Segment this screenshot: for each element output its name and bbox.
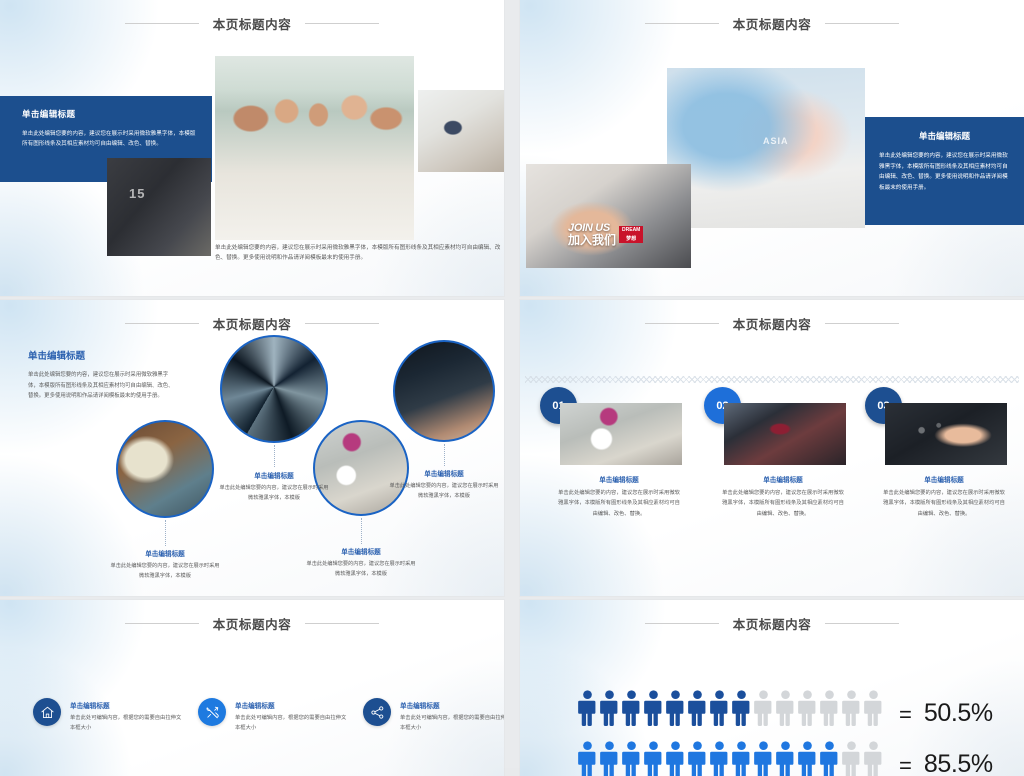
join-us-badge: JOIN US 加入我们 DREAM 梦想 <box>568 223 643 246</box>
person-icon <box>820 741 839 776</box>
connector-4 <box>444 444 445 466</box>
card-text: 单击此处编辑您要的内容，建议您在展示时采用微软雅黑字体，本模版所有图形线条及其相… <box>881 488 1007 519</box>
tools-icon <box>198 698 226 726</box>
slide-3-intro-block: 单击编辑标题 单击此处编辑您要的内容，建议您在展示时采用微软雅黑字体，本模版所有… <box>28 348 178 402</box>
card-text: 单击此处编辑您要的内容，建议您在展示时采用微软雅黑字体，本模版所有图形线条及其相… <box>556 488 682 519</box>
page-title: 本页标题内容 <box>213 14 292 33</box>
wine-toast-photo <box>724 403 846 465</box>
title-rule-right <box>825 623 899 624</box>
numbered-card-1[interactable]: 01 单击编辑标题 单击此处编辑您要的内容，建议您在展示时采用微软雅黑字体，本模… <box>556 403 682 519</box>
percentage-value-1: 50.5% <box>924 701 993 726</box>
person-icon <box>842 690 861 726</box>
panel-body: 单击此处编辑您要的内容，建议您在展示时采用微软雅黑字体，本模版所有图形线条及其相… <box>879 151 1010 194</box>
circle-label-1: 单击编辑标题 单击此处编辑您要的内容，建议您在展示时采用微软雅黑字体，本模版 <box>109 548 221 581</box>
person-icon <box>622 690 641 726</box>
circle-label-title: 单击编辑标题 <box>218 470 330 480</box>
person-icon <box>622 741 641 776</box>
share-icon <box>363 698 391 726</box>
dream-tag-top: DREAM <box>619 226 643 234</box>
card-title: 单击编辑标题 <box>881 474 1007 484</box>
feature-title: 单击编辑标题 <box>70 700 183 710</box>
slide-5[interactable]: 本页标题内容 单击编辑标题 单击此处可编辑内容，根据您的需要自由拉伸文本框大小 <box>0 600 504 776</box>
intro-body: 单击此处编辑您要的内容，建议您在展示时采用微软雅黑字体，本模版所有图形线条及其相… <box>28 370 178 402</box>
pictogram-row-1: = 50.5% <box>578 690 993 726</box>
person-icon <box>578 741 597 776</box>
person-icon <box>732 741 751 776</box>
feature-item-2[interactable]: 单击编辑标题 单击此处可编辑内容，根据您的需要自由拉伸文本框大小 <box>198 698 348 734</box>
feature-text-block: 单击编辑标题 单击此处可编辑内容，根据您的需要自由拉伸文本框大小 <box>400 698 504 734</box>
person-icon <box>644 741 663 776</box>
person-icon <box>754 741 773 776</box>
feature-text-block: 单击编辑标题 单击此处可编辑内容，根据您的需要自由拉伸文本框大小 <box>70 698 183 734</box>
numbered-card-2[interactable]: 02 单击编辑标题 单击此处编辑您要的内容，建议您在展示时采用微软雅黑字体，本模… <box>720 403 846 519</box>
slide-1-title-bar: 本页标题内容 <box>0 0 504 46</box>
panel-heading: 单击编辑标题 <box>879 130 1010 142</box>
connector-2 <box>274 445 275 467</box>
person-icon <box>644 690 663 726</box>
tech-icons-photo <box>885 403 1007 465</box>
circle-label-title: 单击编辑标题 <box>388 468 500 478</box>
title-rule-right <box>305 23 379 24</box>
card-title: 单击编辑标题 <box>556 474 682 484</box>
person-icon <box>820 690 839 726</box>
glass-tower-circle[interactable] <box>220 335 328 443</box>
slide-thumbnail-grid: 本页标题内容 单击编辑标题 单击此处编辑您要的内容，建议您在展示时采用微软雅黑字… <box>0 0 1024 768</box>
page-title: 本页标题内容 <box>733 614 812 633</box>
dream-tag-bottom: 梦想 <box>619 235 643 243</box>
page-title: 本页标题内容 <box>733 314 812 333</box>
intro-heading: 单击编辑标题 <box>28 348 178 362</box>
slide-4[interactable]: 本页标题内容 01 单击编辑标题 单击此处编辑您要的内容，建议您在展示时采用微软… <box>520 300 1024 596</box>
connector-3 <box>361 518 362 544</box>
person-icon <box>666 741 685 776</box>
person-icon <box>578 690 597 726</box>
percentage-value-2: 85.5% <box>924 752 993 776</box>
person-icon <box>864 741 883 776</box>
person-icon <box>842 741 861 776</box>
person-icon <box>754 690 773 726</box>
circle-label-3: 单击编辑标题 单击此处编辑您要的内容，建议您在展示时采用微软雅黑字体，本模版 <box>305 546 417 579</box>
circle-label-text: 单击此处编辑您要的内容，建议您在展示时采用微软雅黑字体，本模版 <box>305 559 417 579</box>
slide-6-title-bar: 本页标题内容 <box>520 600 1024 646</box>
title-rule-left <box>645 323 719 324</box>
person-icon <box>600 741 619 776</box>
title-rule-left <box>645 23 719 24</box>
title-rule-left <box>645 623 719 624</box>
panel-body: 单击此处编辑您要的内容，建议您在展示时采用微软雅黑字体，本模版所有图形线条及其相… <box>22 129 198 150</box>
join-us-chinese: 加入我们 <box>568 234 616 246</box>
title-rule-left <box>125 623 199 624</box>
asia-overlay-text: ASIA <box>763 136 789 146</box>
equals-sign-1: = <box>899 704 912 726</box>
feature-title: 单击编辑标题 <box>235 700 348 710</box>
office-desk-photo <box>418 90 504 172</box>
person-icon <box>864 690 883 726</box>
laptop-desk-circle[interactable] <box>116 420 214 518</box>
feature-body: 单击此处可编辑内容，根据您的需要自由拉伸文本框大小 <box>235 714 348 734</box>
card-title: 单击编辑标题 <box>720 474 846 484</box>
slide-4-title-bar: 本页标题内容 <box>520 300 1024 346</box>
title-rule-right <box>825 23 899 24</box>
connector-1 <box>165 520 166 546</box>
home-icon <box>33 698 61 726</box>
coding-laptop-circle[interactable] <box>393 340 495 442</box>
circle-label-text: 单击此处编辑您要的内容，建议您在展示时采用微软雅黑字体，本模版 <box>218 483 330 503</box>
team-meeting-photo <box>215 56 414 240</box>
title-rule-right <box>305 323 379 324</box>
person-icon <box>776 741 795 776</box>
feature-body: 单击此处可编辑内容，根据您的需要自由拉伸文本框大小 <box>70 714 183 734</box>
title-rule-left <box>125 323 199 324</box>
feature-title: 单击编辑标题 <box>400 700 504 710</box>
person-icon <box>666 690 685 726</box>
coffee-magazine-photo <box>560 403 682 465</box>
card-text: 单击此处编辑您要的内容，建议您在展示时采用微软雅黑字体，本模版所有图形线条及其相… <box>720 488 846 519</box>
title-rule-right <box>825 323 899 324</box>
slide-3[interactable]: 本页标题内容 单击编辑标题 单击此处编辑您要的内容，建议您在展示时采用微软雅黑字… <box>0 300 504 596</box>
person-icon <box>710 741 729 776</box>
pictogram-row-2: = 85.5% <box>578 741 993 776</box>
person-icon <box>798 741 817 776</box>
circle-label-text: 单击此处编辑您要的内容，建议您在展示时采用微软雅黑字体，本模版 <box>388 481 500 501</box>
circle-label-title: 单击编辑标题 <box>109 548 221 558</box>
slide-6[interactable]: 本页标题内容 = 50.5% = 85.5% <box>520 600 1024 776</box>
slide-1[interactable]: 本页标题内容 单击编辑标题 单击此处编辑您要的内容，建议您在展示时采用微软雅黑字… <box>0 0 504 296</box>
desk-clock-time: 15 <box>129 186 145 201</box>
slide-2-title-bar: 本页标题内容 <box>520 0 1024 46</box>
people-icon-group <box>578 690 883 726</box>
numbered-card-3[interactable]: 03 单击编辑标题 单击此处编辑您要的内容，建议您在展示时采用微软雅黑字体，本模… <box>881 403 1007 519</box>
circle-label-text: 单击此处编辑您要的内容，建议您在展示时采用微软雅黑字体，本模版 <box>109 561 221 581</box>
keyboard-typing-photo: ASIA <box>667 68 865 228</box>
person-icon <box>710 690 729 726</box>
page-title: 本页标题内容 <box>213 314 292 333</box>
person-icon <box>688 690 707 726</box>
circle-label-2: 单击编辑标题 单击此处编辑您要的内容，建议您在展示时采用微软雅黑字体，本模版 <box>218 470 330 503</box>
circle-label-title: 单击编辑标题 <box>305 546 417 556</box>
slide-2-blue-panel: 单击编辑标题 单击此处编辑您要的内容，建议您在展示时采用微软雅黑字体，本模版所有… <box>865 117 1024 225</box>
person-icon <box>688 741 707 776</box>
page-title: 本页标题内容 <box>213 614 292 633</box>
person-icon <box>776 690 795 726</box>
person-icon <box>600 690 619 726</box>
feature-item-1[interactable]: 单击编辑标题 单击此处可编辑内容，根据您的需要自由拉伸文本框大小 <box>33 698 183 734</box>
title-rule-left <box>125 23 199 24</box>
title-rule-right <box>305 623 379 624</box>
equals-sign-2: = <box>899 755 912 776</box>
slide-1-caption: 单击此处编辑您要的内容，建议您在展示时采用微软雅黑字体，本模版所有图形线条及其相… <box>215 243 501 264</box>
person-icon <box>732 690 751 726</box>
slide-5-title-bar: 本页标题内容 <box>0 600 504 646</box>
feature-text-block: 单击编辑标题 单击此处可编辑内容，根据您的需要自由拉伸文本框大小 <box>235 698 348 734</box>
feature-body: 单击此处可编辑内容，根据您的需要自由拉伸文本框大小 <box>400 714 504 734</box>
panel-heading: 单击编辑标题 <box>22 108 198 120</box>
page-title: 本页标题内容 <box>733 14 812 33</box>
person-icon <box>798 690 817 726</box>
join-us-hands-photo: JOIN US 加入我们 DREAM 梦想 <box>526 164 691 268</box>
zigzag-divider <box>525 376 1019 383</box>
feature-item-3[interactable]: 单击编辑标题 单击此处可编辑内容，根据您的需要自由拉伸文本框大小 <box>363 698 504 734</box>
circle-label-4: 单击编辑标题 单击此处编辑您要的内容，建议您在展示时采用微软雅黑字体，本模版 <box>388 468 500 501</box>
dark-desk-photo: 15 <box>107 158 211 256</box>
slide-2[interactable]: 本页标题内容 ASIA JOIN US 加入我们 DREAM 梦想 单击编辑标题… <box>520 0 1024 296</box>
people-icon-group <box>578 741 883 776</box>
